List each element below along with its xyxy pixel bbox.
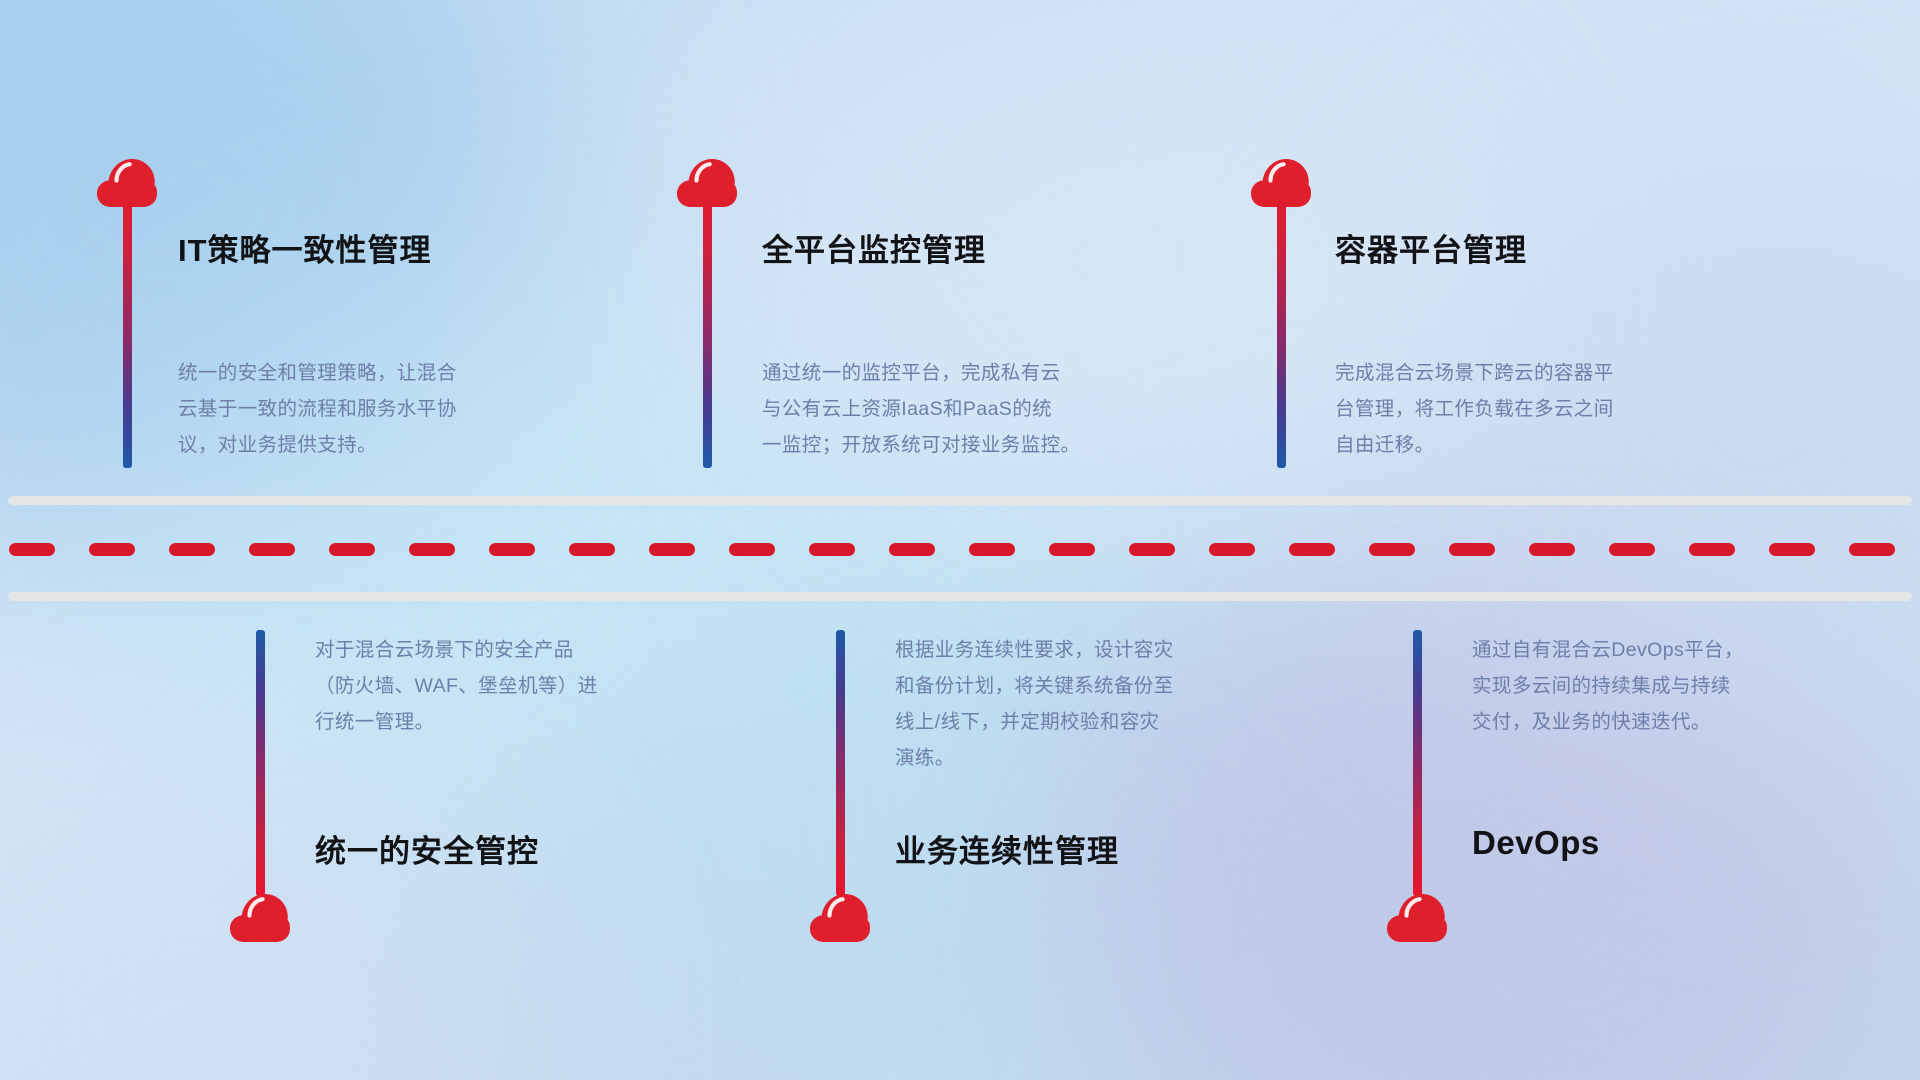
- dashed-separator: [0, 543, 1920, 556]
- card-title: IT策略一致性管理: [178, 225, 432, 270]
- dash-segment: [489, 543, 535, 556]
- connector-stem: [256, 630, 265, 896]
- dash-segment: [649, 543, 695, 556]
- divider-rail-bottom: [8, 592, 1912, 601]
- dash-segment: [969, 543, 1015, 556]
- card-body: 根据业务连续性要求，设计容灾 和备份计划，将关键系统备份至 线上/线下，并定期校…: [895, 632, 1335, 776]
- card-body: 统一的安全和管理策略，让混合 云基于一致的流程和服务水平协 议，对业务提供支持。: [178, 355, 608, 463]
- dash-segment: [329, 543, 375, 556]
- dash-segment: [1209, 543, 1255, 556]
- card-title: 统一的安全管控: [315, 826, 539, 871]
- dash-segment: [1529, 543, 1575, 556]
- cloud-icon: [1386, 893, 1448, 943]
- dash-segment: [169, 543, 215, 556]
- cloud-icon: [229, 893, 291, 943]
- card-title: 容器平台管理: [1335, 225, 1527, 270]
- connector-stem: [836, 630, 845, 896]
- dash-segment: [409, 543, 455, 556]
- connector-stem: [123, 200, 132, 468]
- connector-stem: [1413, 630, 1422, 896]
- connector-stem: [703, 200, 712, 468]
- divider-rail-top: [8, 496, 1912, 505]
- dash-segment: [569, 543, 615, 556]
- cloud-icon: [809, 893, 871, 943]
- dash-segment: [729, 543, 775, 556]
- dash-segment: [889, 543, 935, 556]
- card-title: DevOps: [1472, 824, 1600, 862]
- dash-segment: [1449, 543, 1495, 556]
- dash-segment: [1129, 543, 1175, 556]
- dash-segment: [1689, 543, 1735, 556]
- connector-stem: [1277, 200, 1286, 468]
- infographic-canvas: IT策略一致性管理 统一的安全和管理策略，让混合 云基于一致的流程和服务水平协 …: [0, 0, 1920, 1080]
- card-body: 通过统一的监控平台，完成私有云 与公有云上资源IaaS和PaaS的统 一监控；开…: [762, 355, 1202, 463]
- dash-segment: [1049, 543, 1095, 556]
- dash-segment: [1609, 543, 1655, 556]
- card-title: 业务连续性管理: [895, 826, 1119, 871]
- card-body: 对于混合云场景下的安全产品 （防火墙、WAF、堡垒机等）进 行统一管理。: [315, 632, 745, 740]
- dash-segment: [1849, 543, 1895, 556]
- card-body: 完成混合云场景下跨云的容器平 台管理，将工作负载在多云之间 自由迁移。: [1335, 355, 1765, 463]
- card-title: 全平台监控管理: [762, 225, 986, 270]
- dash-segment: [1289, 543, 1335, 556]
- dash-segment: [1369, 543, 1415, 556]
- dash-segment: [89, 543, 135, 556]
- dash-segment: [809, 543, 855, 556]
- dash-segment: [1769, 543, 1815, 556]
- dash-segment: [249, 543, 295, 556]
- dash-segment: [9, 543, 55, 556]
- card-body: 通过自有混合云DevOps平台， 实现多云间的持续集成与持续 交付，及业务的快速…: [1472, 632, 1902, 740]
